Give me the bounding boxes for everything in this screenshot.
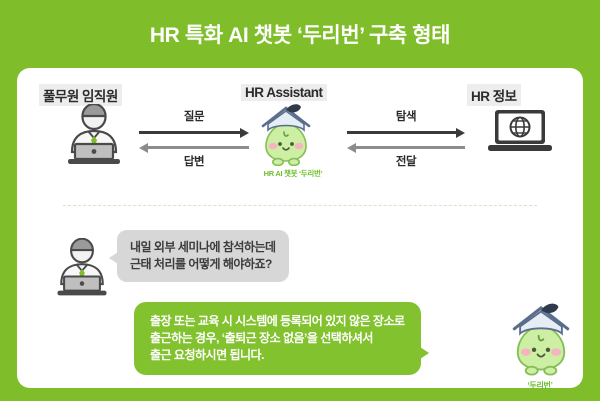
flow-diagram: 풀무원 임직원 HR Assistant HR 정보 질문	[17, 68, 583, 205]
content-card: 풀무원 임직원 HR Assistant HR 정보 질문	[17, 68, 583, 388]
chatbot-mascot-icon	[505, 298, 577, 381]
chat-bubble-answer: 출장 또는 교육 시 시스템에 등록되어 있지 않은 장소로 출근하는 경우, …	[134, 302, 421, 375]
laptop-globe-icon	[487, 108, 553, 163]
mascot-caption-chat: ‘두리번’	[495, 380, 585, 391]
page-title-bar: HR 특화 AI 챗봇 ‘두리번’ 구축 형태	[0, 0, 600, 68]
arrow-label-search: 탐색	[347, 110, 465, 124]
arrow-pair-search-deliver: 탐색 전달	[347, 110, 465, 169]
arrow-backward-answer	[139, 142, 249, 152]
section-divider	[63, 205, 537, 206]
chatbot-mascot-icon	[255, 100, 317, 171]
node-label-employee: 풀무원 임직원	[39, 84, 122, 106]
chat-bubble-question: 내일 외부 세미나에 참석하는데 근태 처리를 어떻게 해야하죠?	[117, 230, 289, 282]
arrow-label-deliver: 전달	[347, 155, 465, 169]
arrow-label-question: 질문	[139, 110, 249, 124]
chat-example: 내일 외부 세미나에 참석하는데 근태 처리를 어떻게 해야하죠? 출장 또는 …	[17, 218, 583, 388]
node-label-assistant: HR Assistant	[241, 84, 327, 101]
arrow-label-answer: 답변	[139, 155, 249, 169]
arrow-forward-question	[139, 127, 249, 137]
arrow-forward-search	[347, 127, 465, 137]
mascot-caption-top: HR AI 챗봇 ‘두리번’	[233, 168, 353, 179]
node-label-hr-info: HR 정보	[467, 84, 521, 106]
person-at-laptop-icon	[49, 238, 115, 303]
person-at-laptop-icon	[59, 104, 129, 171]
arrow-pair-question-answer: 질문 답변	[139, 110, 249, 169]
page-title: HR 특화 AI 챗봇 ‘두리번’ 구축 형태	[150, 19, 450, 49]
arrow-backward-deliver	[347, 142, 465, 152]
